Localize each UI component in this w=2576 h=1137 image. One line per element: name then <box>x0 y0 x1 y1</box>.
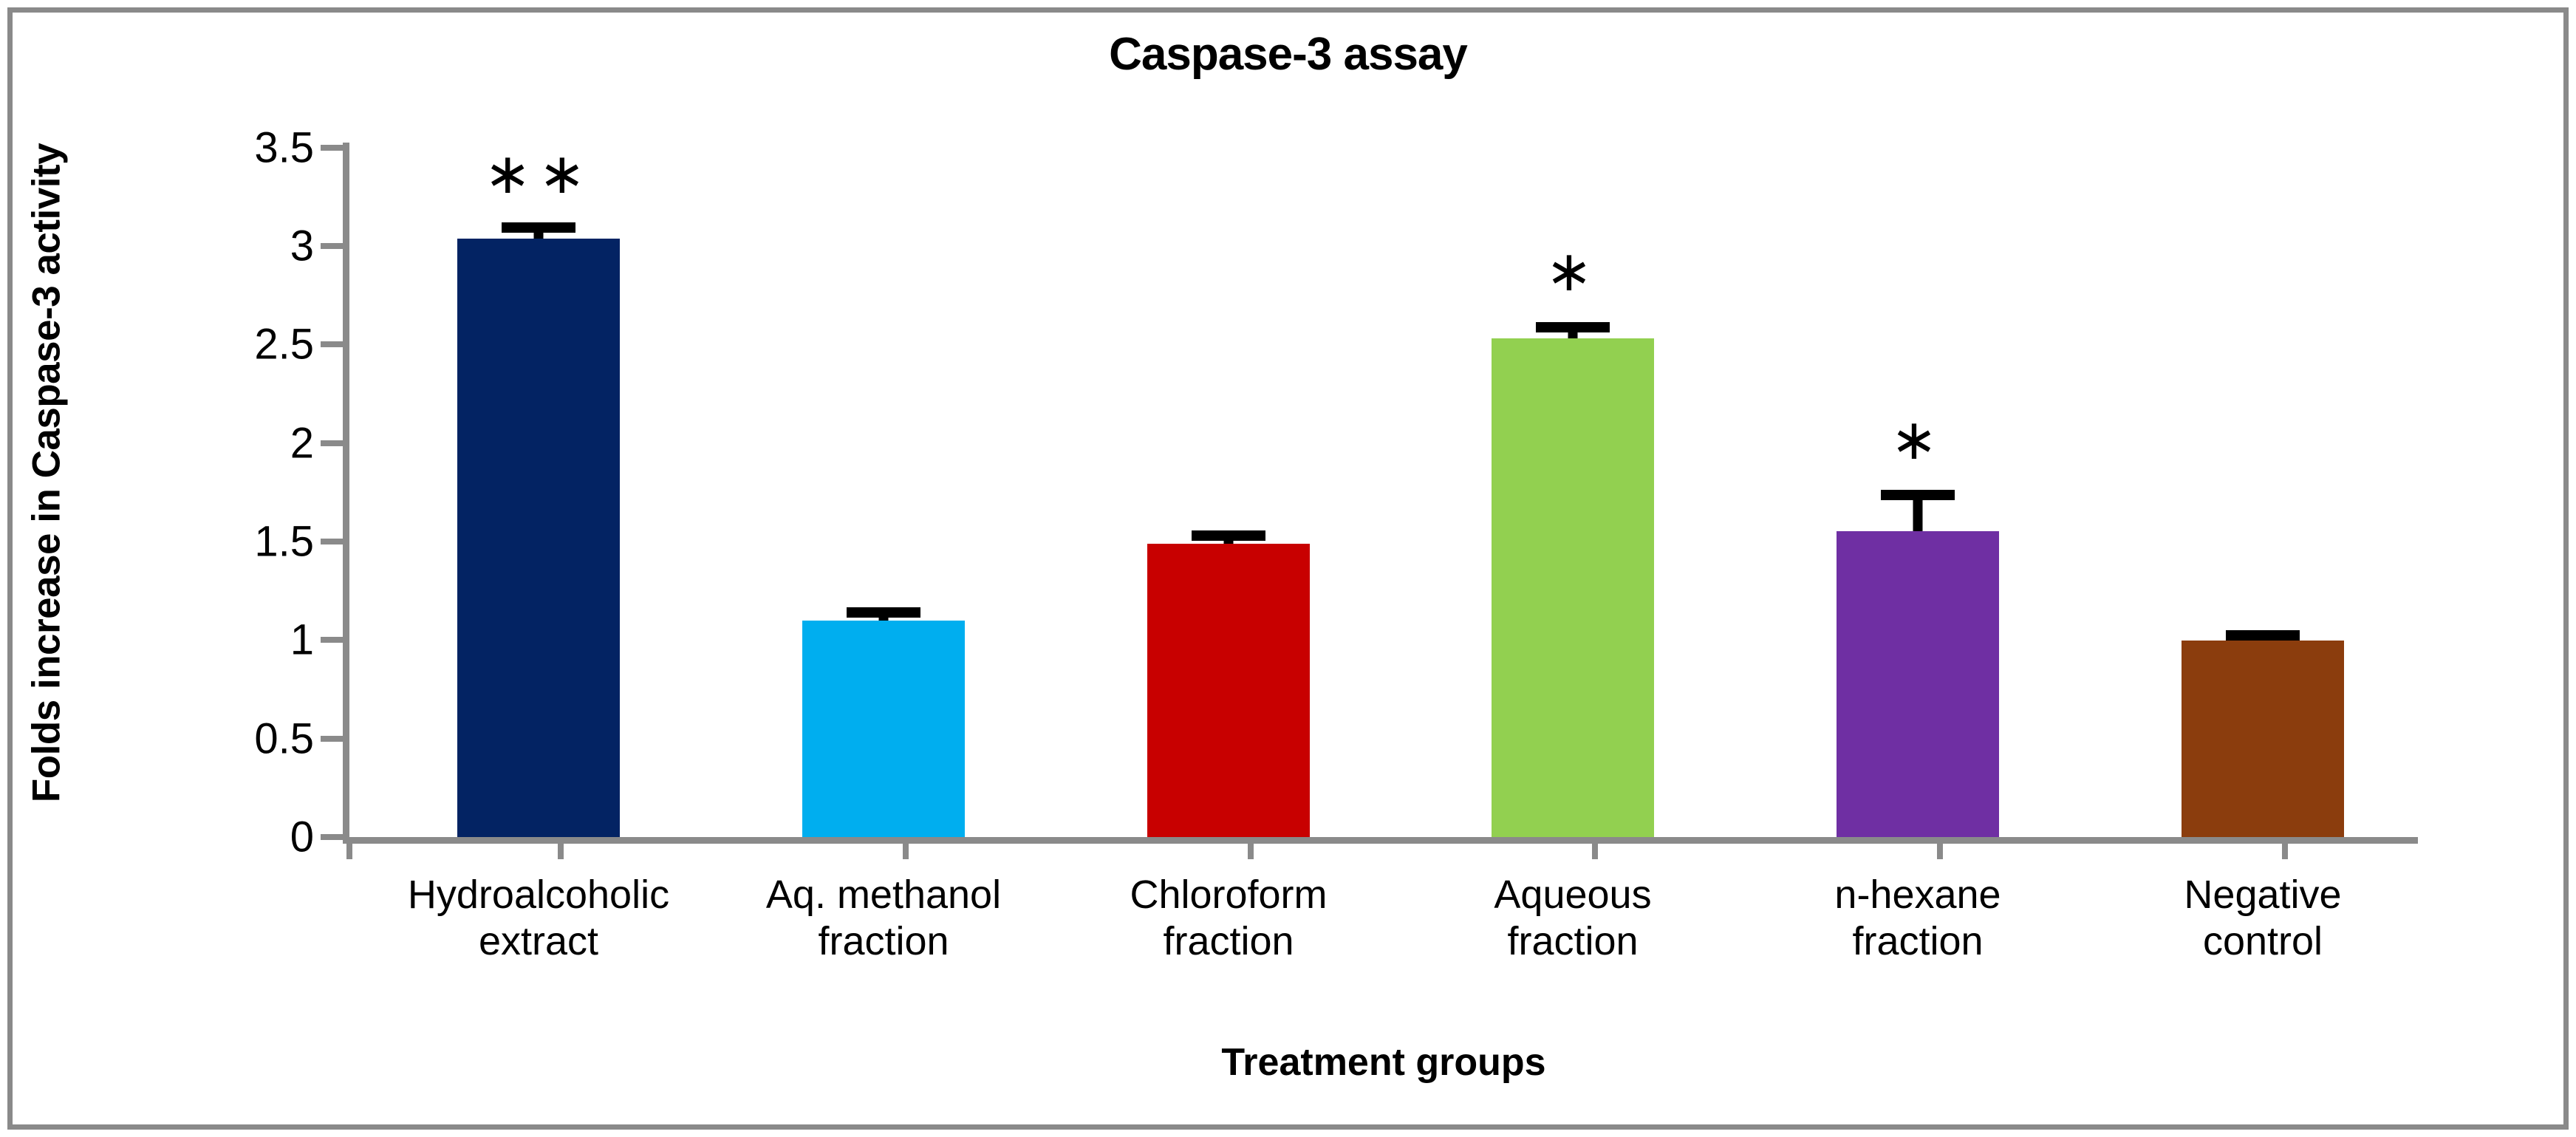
x-tick-label-line1: Aq. methanol <box>766 873 1001 917</box>
error-bar-stem <box>2258 630 2268 641</box>
error-bar-hydroalcoholic-extract <box>502 222 575 239</box>
y-tick-label-3-5: 3.5 <box>254 123 314 173</box>
error-bar-stem <box>1913 490 1923 531</box>
x-category-separator <box>346 837 352 859</box>
x-tick-label-aqueous-fraction: Aqueous fraction <box>1384 872 1762 965</box>
error-bar-stem <box>879 607 889 621</box>
error-bar-aqueous-fraction <box>1536 322 1610 338</box>
y-tick-label-0: 0 <box>290 813 314 862</box>
y-tick-label-2: 2 <box>290 419 314 468</box>
x-tick-label-line2: fraction <box>1039 918 1418 965</box>
x-tick-label-line2: extract <box>349 918 728 965</box>
x-category-separator <box>1937 837 1943 859</box>
error-bar-stem <box>534 222 544 239</box>
significance-marker-n-hexane-fraction: ∗ <box>1890 412 1945 468</box>
error-bar-n-hexane-fraction <box>1881 490 1955 531</box>
x-tick-label-line1: n-hexane <box>1834 873 2001 917</box>
bar-series: ∗∗ <box>349 148 2418 837</box>
bar-aq-methanol-fraction[interactable] <box>802 621 965 837</box>
bar-hydroalcoholic-extract[interactable] <box>457 239 620 837</box>
plot-area: 3.5 3 2.5 2 1.5 1 0.5 0 <box>349 148 2418 837</box>
y-tick-1 <box>321 637 343 643</box>
x-axis-tick-labels: Hydroalcoholic extract Aq. methanol frac… <box>349 872 2418 1012</box>
bar-negative-control[interactable] <box>2182 641 2344 837</box>
y-tick-label-3: 3 <box>290 222 314 271</box>
x-tick-label-chloroform-fraction: Chloroform fraction <box>1039 872 1418 965</box>
x-axis-line <box>343 837 2418 844</box>
x-tick-label-line2: fraction <box>1729 918 2107 965</box>
x-tick-label-n-hexane-fraction: n-hexane fraction <box>1729 872 2107 965</box>
y-tick-label-2-5: 2.5 <box>254 320 314 369</box>
x-category-separator <box>2282 837 2288 859</box>
x-tick-label-line2: control <box>2074 918 2452 965</box>
x-tick-label-line2: fraction <box>1384 918 1762 965</box>
error-bar-negative-control <box>2226 630 2300 641</box>
y-axis-title-container: Folds increase in Caspase-3 activity <box>13 66 80 879</box>
y-tick-0 <box>321 834 343 840</box>
error-bar-chloroform-fraction <box>1192 530 1265 544</box>
y-axis-title: Folds increase in Caspase-3 activity <box>24 143 69 802</box>
x-category-separator <box>1248 837 1254 859</box>
x-tick-label-line1: Aqueous <box>1494 873 1651 917</box>
bar-n-hexane-fraction[interactable] <box>1837 531 1999 837</box>
x-category-separator <box>903 837 909 859</box>
x-category-separator <box>1592 837 1598 859</box>
y-tick-2 <box>321 440 343 446</box>
bar-aqueous-fraction[interactable] <box>1492 338 1654 837</box>
chart-figure: Caspase-3 assay Folds increase in Caspas… <box>0 0 2576 1137</box>
chart-title: Caspase-3 assay <box>0 28 2576 81</box>
y-tick-label-0-5: 0.5 <box>254 714 314 764</box>
bar-group-chloroform-fraction <box>1039 148 1418 837</box>
y-tick-label-1: 1 <box>290 615 314 665</box>
error-bar-aq-methanol-fraction <box>847 607 920 621</box>
y-tick-0-5 <box>321 736 343 742</box>
x-tick-label-hydroalcoholic-extract: Hydroalcoholic extract <box>349 872 728 965</box>
bar-chloroform-fraction[interactable] <box>1147 544 1310 837</box>
x-tick-label-line1: Chloroform <box>1130 873 1327 917</box>
bar-group-aq-methanol-fraction <box>694 148 1073 837</box>
bar-group-aqueous-fraction: ∗ <box>1384 148 1762 837</box>
y-tick-2-5 <box>321 341 343 347</box>
x-tick-label-line1: Hydroalcoholic <box>408 873 669 917</box>
bar-group-n-hexane-fraction: ∗ <box>1729 148 2107 837</box>
bar-group-hydroalcoholic-extract: ∗∗ <box>349 148 728 837</box>
y-tick-1-5 <box>321 539 343 544</box>
error-bar-stem <box>1224 530 1234 544</box>
y-tick-label-1-5: 1.5 <box>254 517 314 567</box>
x-tick-label-aq-methanol-fraction: Aq. methanol fraction <box>694 872 1073 965</box>
x-category-separator <box>558 837 564 859</box>
y-tick-3 <box>321 243 343 249</box>
significance-marker-aqueous-fraction: ∗ <box>1545 243 1600 299</box>
significance-marker-hydroalcoholic-extract: ∗∗ <box>484 146 592 202</box>
x-tick-label-line2: fraction <box>694 918 1073 965</box>
x-axis-title: Treatment groups <box>349 1040 2418 1085</box>
x-tick-label-negative-control: Negative control <box>2074 872 2452 965</box>
x-tick-label-line1: Negative <box>2184 873 2341 917</box>
error-bar-stem <box>1568 322 1578 338</box>
bar-group-negative-control <box>2074 148 2452 837</box>
y-tick-3-5 <box>321 145 343 151</box>
y-axis-line <box>343 143 349 842</box>
